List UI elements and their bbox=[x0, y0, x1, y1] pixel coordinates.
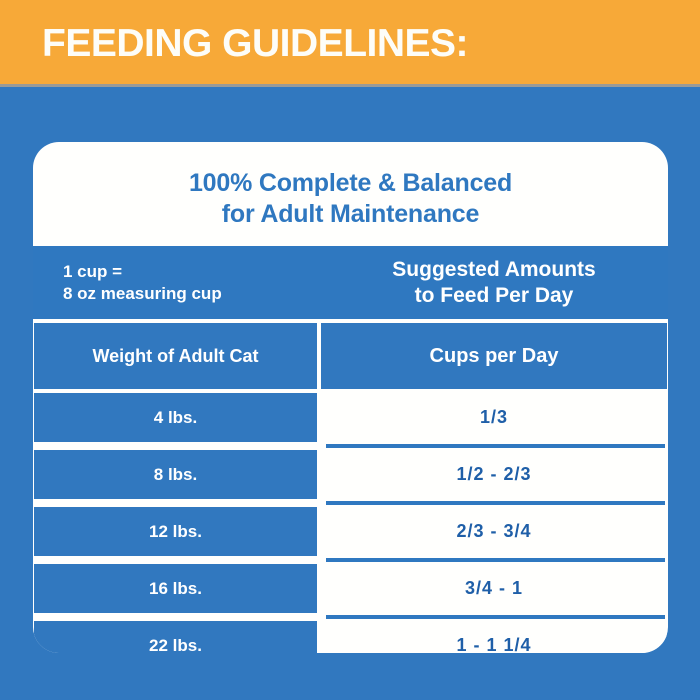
card-title-line-2: for Adult Maintenance bbox=[33, 199, 668, 230]
cell-weight: 8 lbs. bbox=[34, 450, 317, 499]
cell-weight: 12 lbs. bbox=[34, 507, 317, 556]
column-header-weight: Weight of Adult Cat bbox=[34, 323, 317, 389]
measuring-cup-note-line-1: 1 cup = bbox=[63, 261, 222, 283]
cell-cups: 1 - 1 1/4 bbox=[321, 621, 667, 653]
cell-cups: 1/3 bbox=[321, 393, 667, 442]
header-banner: FEEDING GUIDELINES: bbox=[0, 0, 700, 84]
suggested-amounts-line-1: Suggested Amounts bbox=[321, 257, 667, 283]
cell-weight: 16 lbs. bbox=[34, 564, 317, 613]
row-divider bbox=[33, 556, 668, 564]
card-title: 100% Complete & Balanced for Adult Maint… bbox=[33, 168, 668, 230]
feeding-guidelines-page: FEEDING GUIDELINES: 100% Complete & Bala… bbox=[0, 0, 700, 700]
table-row: 8 lbs. 1/2 - 2/3 bbox=[33, 450, 668, 499]
table-intro-row: 1 cup = 8 oz measuring cup Suggested Amo… bbox=[33, 246, 668, 319]
row-divider bbox=[33, 499, 668, 507]
table-row: 4 lbs. 1/3 bbox=[33, 393, 668, 442]
card-title-line-1: 100% Complete & Balanced bbox=[189, 169, 512, 197]
measuring-cup-note: 1 cup = 8 oz measuring cup bbox=[63, 261, 222, 305]
banner-divider bbox=[0, 84, 700, 87]
feeding-table-card: 100% Complete & Balanced for Adult Maint… bbox=[33, 142, 668, 653]
cell-cups: 1/2 - 2/3 bbox=[321, 450, 667, 499]
cell-weight: 22 lbs. bbox=[34, 621, 317, 653]
row-divider bbox=[33, 442, 668, 450]
table-row: 16 lbs. 3/4 - 1 bbox=[33, 564, 668, 613]
cell-weight: 4 lbs. bbox=[34, 393, 317, 442]
table-row: 12 lbs. 2/3 - 3/4 bbox=[33, 507, 668, 556]
row-divider bbox=[33, 613, 668, 621]
cell-cups: 3/4 - 1 bbox=[321, 564, 667, 613]
column-header-cups: Cups per Day bbox=[321, 323, 667, 389]
cell-cups: 2/3 - 3/4 bbox=[321, 507, 667, 556]
measuring-cup-note-line-2: 8 oz measuring cup bbox=[63, 283, 222, 305]
table-header-row: Weight of Adult Cat Cups per Day bbox=[33, 323, 668, 389]
suggested-amounts-line-2: to Feed Per Day bbox=[321, 283, 667, 309]
page-title: FEEDING GUIDELINES: bbox=[42, 22, 468, 66]
table-row: 22 lbs. 1 - 1 1/4 bbox=[33, 621, 668, 653]
suggested-amounts-heading: Suggested Amounts to Feed Per Day bbox=[321, 257, 667, 309]
feeding-table: 1 cup = 8 oz measuring cup Suggested Amo… bbox=[33, 246, 668, 653]
